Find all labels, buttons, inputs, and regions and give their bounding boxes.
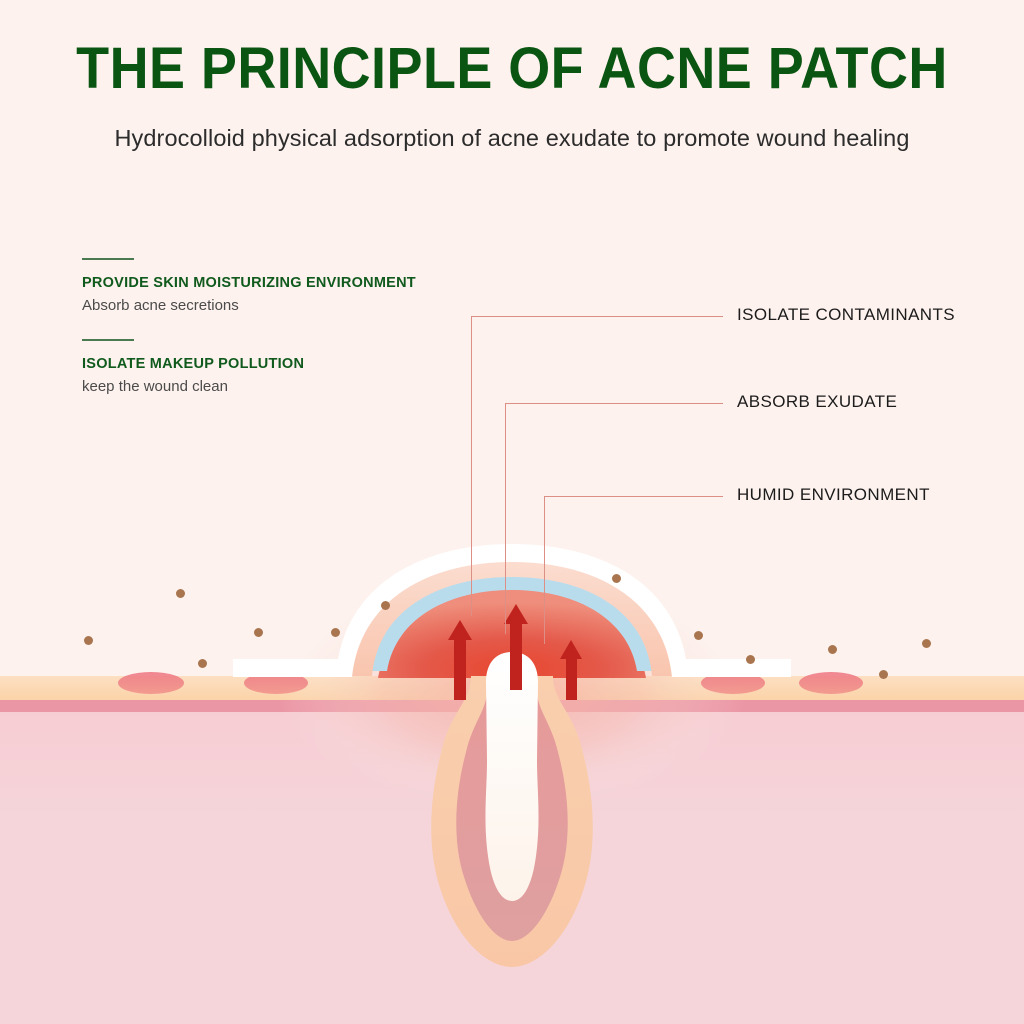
callout-heading: ISOLATE MAKEUP POLLUTION	[82, 355, 502, 374]
contaminant-dot	[694, 631, 703, 640]
contaminant-dot	[331, 628, 340, 637]
callout-subtext: Absorb acne secretions	[82, 296, 502, 316]
contaminant-dot	[198, 659, 207, 668]
skin-cross-section-illustration	[0, 0, 1024, 1024]
callout-subtext: keep the wound clean	[82, 377, 502, 397]
leader-line-absorb-exudate-horizontal	[505, 403, 723, 404]
leader-line-absorb-exudate-vertical	[505, 403, 506, 634]
contaminant-dot	[922, 639, 931, 648]
leader-line-isolate-contaminants-horizontal	[471, 316, 723, 317]
leader-line-humid-environment-horizontal	[544, 496, 723, 497]
callout-isolate-contaminants: ISOLATE CONTAMINANTS	[737, 305, 955, 325]
contaminant-dot	[879, 670, 888, 679]
page-subtitle: Hydrocolloid physical adsorption of acne…	[0, 123, 1024, 153]
callout-heading: PROVIDE SKIN MOISTURIZING ENVIRONMENT	[82, 274, 502, 293]
contaminant-dot	[176, 589, 185, 598]
contaminant-dot	[84, 636, 93, 645]
contaminant-dot	[254, 628, 263, 637]
callout-rule	[82, 339, 134, 341]
callout-rule	[82, 258, 134, 260]
page-title: THE PRINCIPLE OF ACNE PATCH	[36, 38, 988, 100]
leader-line-isolate-contaminants-vertical	[471, 316, 472, 616]
callout-provide-skin-moisturizing-environment: PROVIDE SKIN MOISTURIZING ENVIRONMENT Ab…	[82, 258, 502, 316]
leader-line-humid-environment-vertical	[544, 496, 545, 644]
contaminant-dot	[746, 655, 755, 664]
callout-isolate-makeup-pollution: ISOLATE MAKEUP POLLUTION keep the wound …	[82, 339, 502, 397]
callout-humid-environment: HUMID ENVIRONMENT	[737, 485, 930, 505]
infographic-canvas: THE PRINCIPLE OF ACNE PATCH Hydrocolloid…	[0, 0, 1024, 1024]
contaminant-dot	[381, 601, 390, 610]
callout-absorb-exudate: ABSORB EXUDATE	[737, 392, 897, 412]
contaminant-dot	[828, 645, 837, 654]
contaminant-dot	[612, 574, 621, 583]
